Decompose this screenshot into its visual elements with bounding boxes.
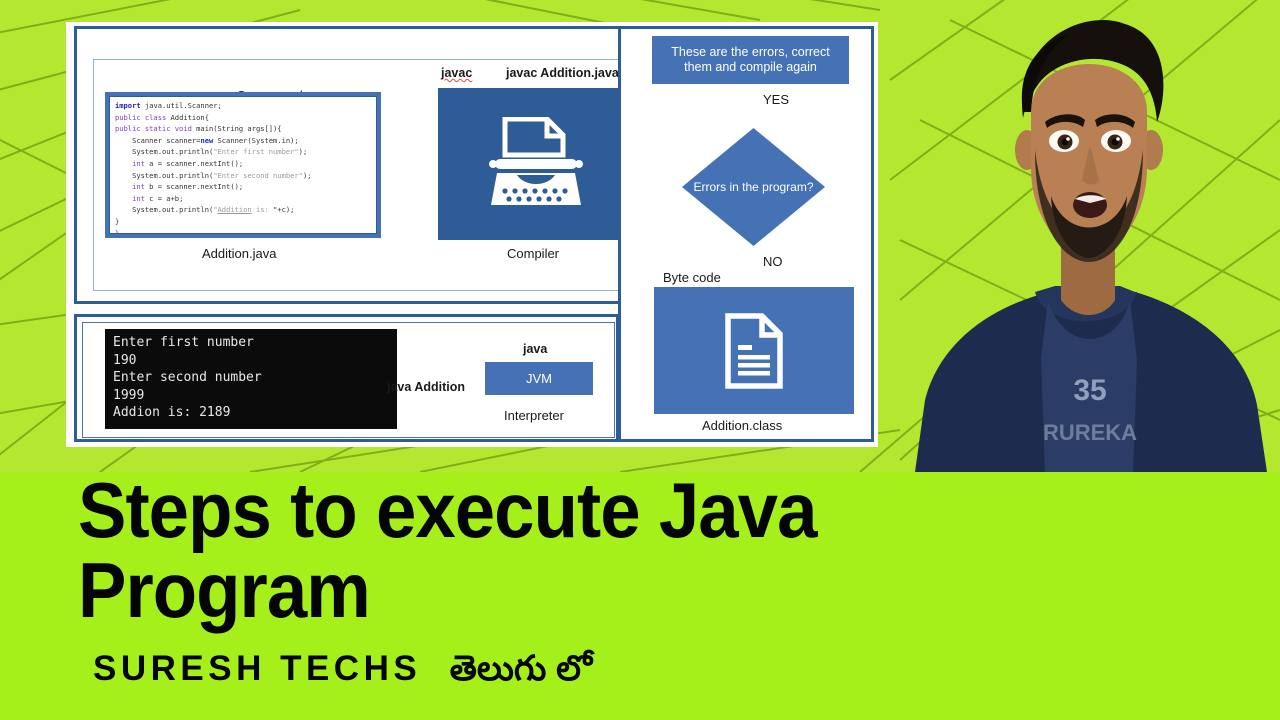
program-output-console: Enter first number 190 Enter second numb…: [105, 329, 397, 429]
svg-text:RUREKA: RUREKA: [1043, 420, 1137, 445]
java-command-label: java Addition: [387, 380, 465, 394]
channel-name: SURESH TECHS: [93, 649, 421, 688]
error-message-text: These are the errors, correct them and c…: [658, 45, 843, 75]
title-line-1: Steps to execute Java: [78, 470, 971, 550]
class-file-label: Addition.class: [702, 418, 782, 433]
compiler-label: Compiler: [507, 246, 559, 261]
java-short-label: java: [523, 342, 547, 356]
yes-label: YES: [763, 92, 789, 107]
jvm-label: JVM: [526, 371, 552, 386]
decision-label: Errors in the program?: [682, 128, 825, 246]
no-label: NO: [763, 254, 783, 269]
byte-code-label: Byte code: [663, 270, 721, 285]
slide-canvas: Source code import java.util.Scanner; pu…: [66, 22, 878, 447]
decision-diamond: Errors in the program?: [682, 128, 825, 246]
javac-short-label: javac: [441, 66, 472, 80]
source-file-label: Addition.java: [202, 246, 276, 261]
java-source-text: import java.util.Scanner; public class A…: [109, 96, 377, 234]
presenter-video: 35 RUREKA: [885, 0, 1280, 472]
video-title: Steps to execute Java Program: [78, 470, 971, 630]
javac-command-label: javac Addition.java: [506, 66, 619, 80]
class-file-box: [654, 287, 854, 414]
interpreter-label: Interpreter: [504, 408, 564, 423]
channel-subtitle: SURESH TECHS తెలుగు లో: [93, 649, 592, 697]
source-code-block: import java.util.Scanner; public class A…: [105, 92, 381, 238]
language-label: తెలుగు లో: [450, 649, 592, 688]
title-line-2: Program: [78, 550, 971, 630]
typewriter-icon: [485, 117, 589, 211]
svg-text:35: 35: [1073, 374, 1106, 407]
document-icon: [724, 313, 784, 389]
error-message-box: These are the errors, correct them and c…: [652, 36, 849, 84]
compiler-box: [438, 88, 635, 240]
jvm-box: JVM: [485, 362, 593, 395]
